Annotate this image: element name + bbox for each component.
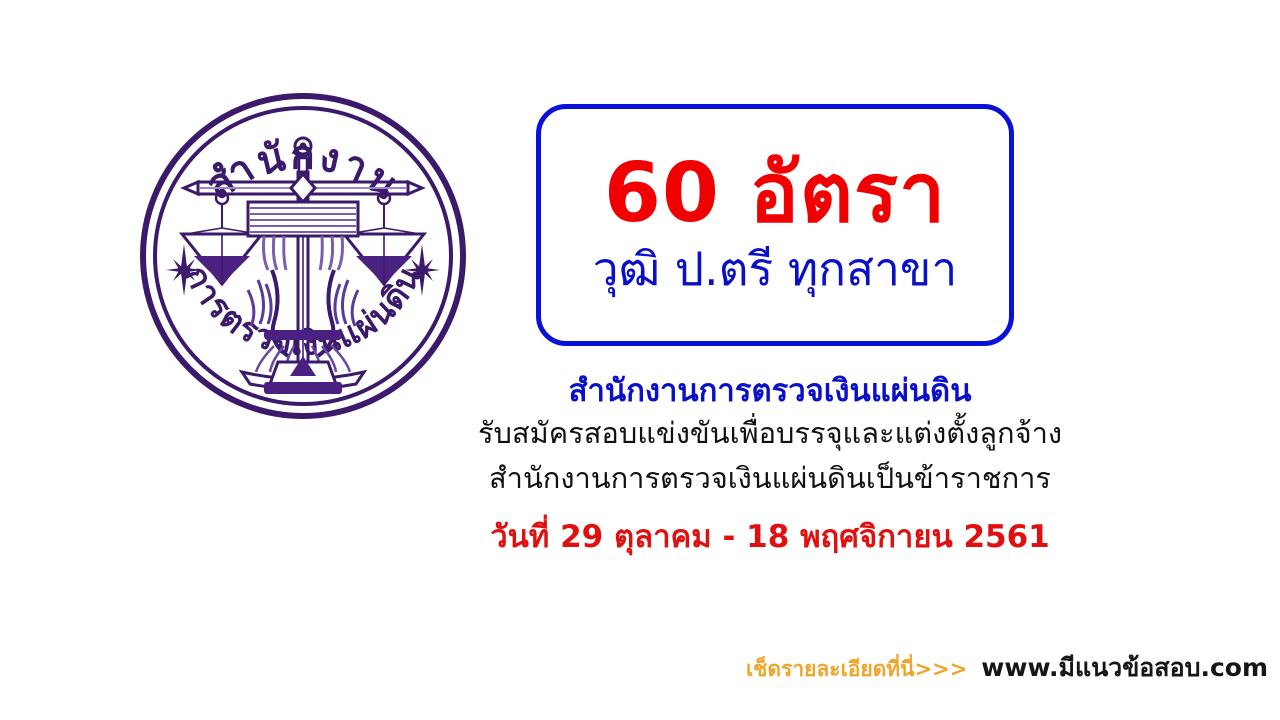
poster-canvas: สำนักงาน การตรวจเงินแผ่นดิน — [0, 0, 1280, 720]
footer-cta-text[interactable]: เช็ดรายละเอียดที่นี่>>> — [746, 653, 967, 686]
vacancy-count-headline: 60 อัตรา — [604, 153, 946, 235]
footer-website-url[interactable]: www.มีแนวข้อสอบ.com — [981, 648, 1268, 688]
state-audit-office-seal-logo: สำนักงาน การตรวจเงินแผ่นดิน — [138, 84, 468, 426]
announcement-body-line-2: สำนักงานการตรวจเงินแผ่นดินเป็นข้าราชการ — [430, 456, 1110, 501]
vacancy-badge: 60 อัตรา วุฒิ ป.ตรี ทุกสาขา — [536, 104, 1014, 346]
application-date-range: วันที่ 29 ตุลาคม - 18 พฤศจิกายน 2561 — [430, 519, 1110, 556]
announcement-text-block: สำนักงานการตรวจเงินแผ่นดิน รับสมัครสอบแข… — [430, 372, 1110, 556]
organization-name: สำนักงานการตรวจเงินแผ่นดิน — [430, 372, 1110, 411]
footer-bar: เช็ดรายละเอียดที่นี่>>> www.มีแนวข้อสอบ.… — [0, 648, 1268, 688]
qualification-subline: วุฒิ ป.ตรี ทุกสาขา — [593, 245, 957, 293]
announcement-body-line-1: รับสมัครสอบแข่งขันเพื่อบรรจุและแต่งตั้งล… — [430, 411, 1110, 456]
